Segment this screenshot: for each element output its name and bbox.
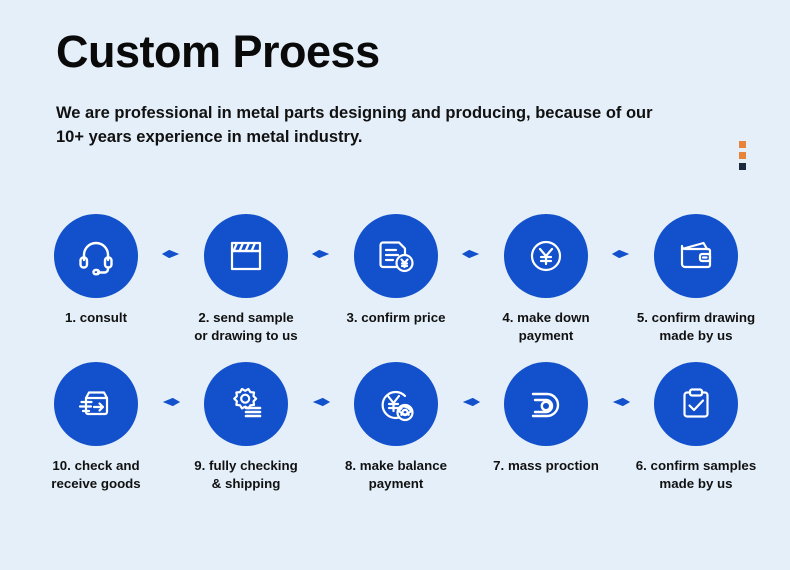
process-step-5-circle[interactable] (654, 214, 738, 298)
header: Custom Proess We are professional in met… (56, 28, 746, 150)
process-step-7-label: 7. mass proction (476, 457, 616, 475)
flow-arrow-right-4 (611, 245, 631, 263)
process-step-10-label: 10. check and receive goods (26, 457, 166, 492)
flow-arrow-left-3 (461, 393, 481, 411)
decorative-dots (739, 141, 746, 170)
flow-arrow-left-1 (161, 393, 181, 411)
page-subtitle: We are professional in metal parts desig… (56, 102, 656, 150)
yen-circle-icon (525, 235, 567, 277)
process-step-6-label: 6. confirm samples made by us (626, 457, 766, 492)
headset-icon (74, 234, 118, 278)
process-step-4[interactable]: 4. make down payment (481, 214, 611, 344)
process-row-bottom: 10. check and receive goods 9. fully che… (0, 362, 790, 492)
process-step-2[interactable]: 2. send sample or drawing to us (181, 214, 311, 344)
process-step-9[interactable]: 9. fully checking & shipping (181, 362, 311, 492)
clipboard-check-icon (675, 383, 717, 425)
process-step-7[interactable]: 7. mass proction (481, 362, 611, 475)
process-step-9-circle[interactable] (204, 362, 288, 446)
flow-arrow-right-2 (311, 245, 331, 263)
process-step-6[interactable]: 6. confirm samples made by us (631, 362, 761, 492)
wallet-icon (675, 235, 717, 277)
box-delivery-icon (75, 383, 117, 425)
process-row-top: 1. consult 2. send sample or drawing to … (0, 214, 790, 344)
process-step-8-label: 8. make balance payment (326, 457, 466, 492)
process-step-10-circle[interactable] (54, 362, 138, 446)
dot-navy-icon (739, 163, 746, 170)
process-step-3-label: 3. confirm price (326, 309, 466, 327)
flow-arrow-left-4 (611, 393, 631, 411)
gear-document-icon (225, 383, 267, 425)
process-step-7-circle[interactable] (504, 362, 588, 446)
process-step-2-label: 2. send sample or drawing to us (176, 309, 316, 344)
process-step-1-circle[interactable] (54, 214, 138, 298)
yen-gear-icon (375, 383, 417, 425)
process-step-5[interactable]: 5. confirm drawing made by us (631, 214, 761, 344)
process-step-2-circle[interactable] (204, 214, 288, 298)
process-step-10[interactable]: 10. check and receive goods (31, 362, 161, 492)
process-step-4-circle[interactable] (504, 214, 588, 298)
custom-process-infographic: Custom Proess We are professional in met… (0, 0, 790, 570)
process-step-3-circle[interactable] (354, 214, 438, 298)
process-step-1[interactable]: 1. consult (31, 214, 161, 327)
process-step-9-label: 9. fully checking & shipping (176, 457, 316, 492)
process-step-8[interactable]: 8. make balance payment (331, 362, 461, 492)
flow-arrow-right-3 (461, 245, 481, 263)
clapperboard-icon (226, 236, 266, 276)
dot-orange-1-icon (739, 141, 746, 148)
process-step-1-label: 1. consult (26, 309, 166, 327)
page-title: Custom Proess (56, 28, 746, 75)
process-step-3[interactable]: 3. confirm price (331, 214, 461, 327)
process-step-5-label: 5. confirm drawing made by us (626, 309, 766, 344)
flow-arrow-left-2 (311, 393, 331, 411)
dot-orange-2-icon (739, 152, 746, 159)
process-step-6-circle[interactable] (654, 362, 738, 446)
process-step-4-label: 4. make down payment (476, 309, 616, 344)
process-step-8-circle[interactable] (354, 362, 438, 446)
document-yen-icon (375, 235, 417, 277)
flow-arrow-right-1 (161, 245, 181, 263)
spiral-coil-icon (525, 383, 567, 425)
